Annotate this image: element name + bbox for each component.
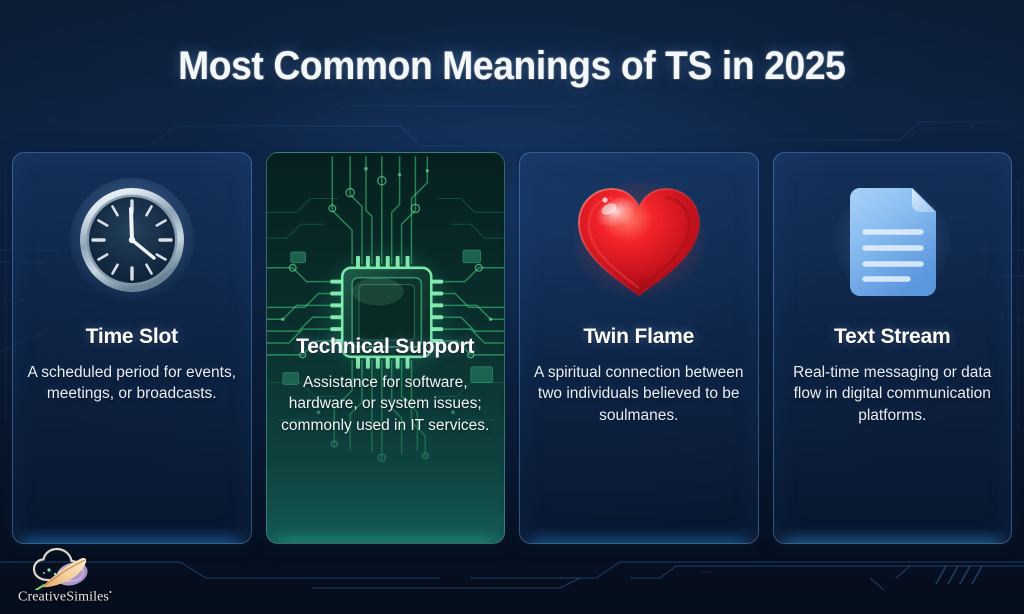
card-time-slot-icon-area xyxy=(23,167,241,317)
brand-logo-text: CreativeSimiles• xyxy=(18,588,148,606)
card-time-slot-title: Time Slot xyxy=(86,325,178,349)
card-technical-support-title: Technical Support xyxy=(296,335,474,359)
cloud-feather-icon xyxy=(28,546,112,590)
brand-trademark: • xyxy=(109,588,112,597)
infographic-canvas: Most Common Meanings of TS in 2025 xyxy=(0,0,1024,614)
document-icon xyxy=(832,178,952,306)
clock-icon xyxy=(66,176,198,308)
brand-logo[interactable]: CreativeSimiles• xyxy=(14,546,146,608)
brand-name: CreativeSimiles xyxy=(18,590,109,605)
heart-icon xyxy=(569,178,709,306)
card-twin-flame-description: A spiritual connection between two indiv… xyxy=(531,362,746,426)
card-time-slot[interactable]: Time Slot A scheduled period for events,… xyxy=(12,152,252,544)
card-technical-support[interactable]: Technical Support Assistance for softwar… xyxy=(266,152,506,544)
card-twin-flame-title: Twin Flame xyxy=(583,325,694,349)
card-text-stream-description: Real-time messaging or data flow in digi… xyxy=(785,362,1000,426)
page-title-wrapper: Most Common Meanings of TS in 2025 xyxy=(0,44,1024,89)
card-time-slot-description: A scheduled period for events, meetings,… xyxy=(24,362,239,405)
footer-hud-decoration xyxy=(0,548,1024,614)
page-title: Most Common Meanings of TS in 2025 xyxy=(178,44,845,89)
card-text-stream-title: Text Stream xyxy=(834,325,950,349)
card-text-stream-icon-area xyxy=(784,167,1002,317)
card-text-stream[interactable]: Text Stream Real-time messaging or data … xyxy=(773,152,1013,544)
card-twin-flame[interactable]: Twin Flame A spiritual connection betwee… xyxy=(519,152,759,544)
card-twin-flame-icon-area xyxy=(530,167,748,317)
card-technical-support-icon-area xyxy=(277,167,495,327)
meanings-card-row: Time Slot A scheduled period for events,… xyxy=(12,152,1012,544)
card-technical-support-description: Assistance for software, hardware, or sy… xyxy=(280,372,490,436)
